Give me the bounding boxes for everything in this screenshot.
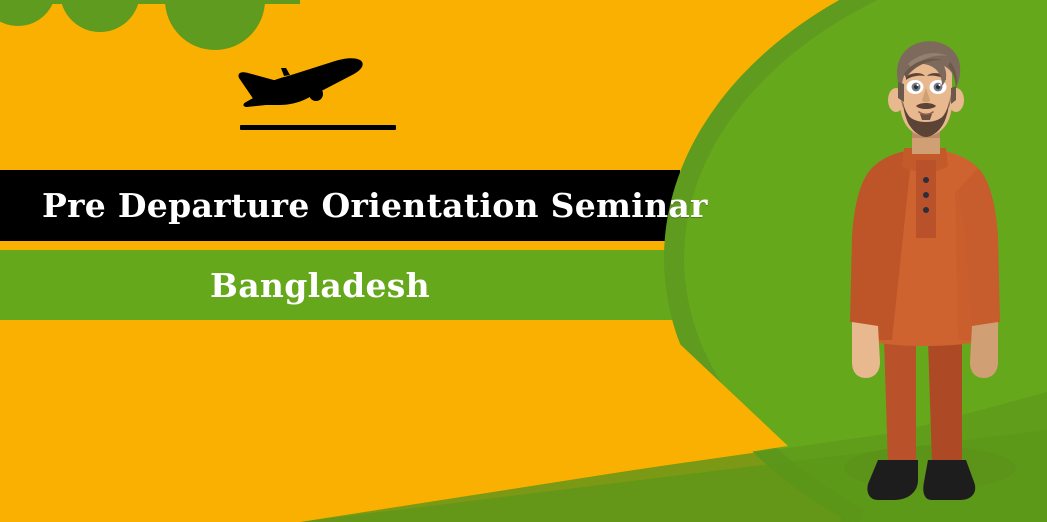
page-subtitle: Bangladesh — [0, 250, 640, 320]
airplane-takeoff-icon — [232, 53, 372, 115]
page-title: Pre Departure Orientation Seminar — [0, 170, 660, 241]
pdos-banner: Pre Departure Orientation Seminar Bangla… — [0, 0, 1047, 522]
runway-line — [240, 125, 396, 130]
standing-man-illustration — [812, 40, 1037, 522]
airplane-block — [232, 53, 402, 133]
